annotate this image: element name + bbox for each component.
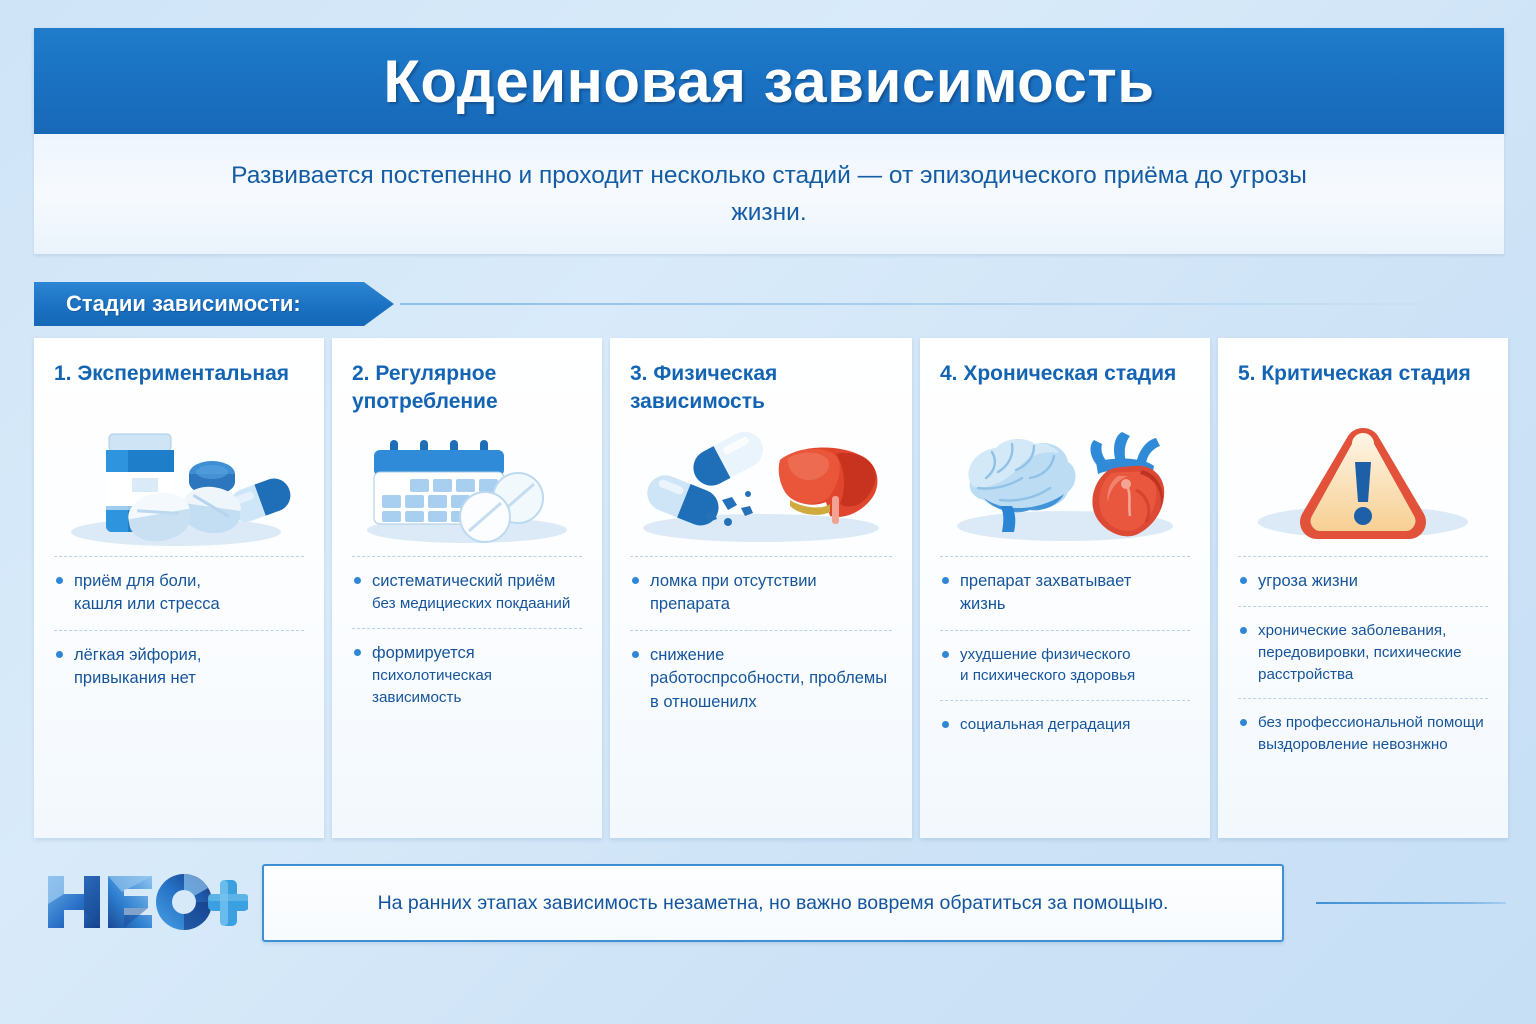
list-item: хронические заболевания, передовировки, … bbox=[1238, 606, 1488, 698]
stage-bullets-2: систематический приём без медициеских по… bbox=[352, 556, 582, 722]
bullet-sub: кашля или стресса bbox=[74, 593, 302, 616]
stage-card-1[interactable]: 1. Экспериментальная bbox=[34, 338, 324, 838]
bullet-lead: формируется bbox=[372, 642, 580, 665]
title-banner: Кодеиновая зависимость bbox=[34, 28, 1504, 134]
stage-illustration-1 bbox=[54, 422, 304, 550]
list-item: формируется психолотическая зависимость bbox=[352, 628, 582, 722]
list-item: ухудшение физического и психического здо… bbox=[940, 630, 1190, 700]
stage-illustration-2 bbox=[352, 422, 582, 550]
footer-note-box: На ранних этапах зависимость незаметна, … bbox=[262, 864, 1284, 942]
stage-bullets-5: угроза жизни хронические заболевания, пе… bbox=[1238, 556, 1488, 768]
bullet-lead: снижение bbox=[650, 644, 890, 667]
list-item: угроза жизни bbox=[1238, 556, 1488, 606]
bullet-sub: выздоровление невознжно bbox=[1258, 734, 1486, 756]
list-item: социальная деградация bbox=[940, 700, 1190, 749]
calendar-and-pills-icon bbox=[352, 422, 582, 548]
bullet-sub: жизнь bbox=[960, 593, 1188, 616]
bullet-lead: ломка при отсутствии bbox=[650, 570, 890, 593]
bullet-sub: передовировки, психические расстройства bbox=[1258, 642, 1486, 685]
page-title: Кодеиновая зависимость bbox=[383, 47, 1154, 116]
stage-bullets-1: приём для боли, кашля или стресса лёгкая… bbox=[54, 556, 304, 704]
stage-card-2[interactable]: 2. Регулярное употребление bbox=[332, 338, 602, 838]
capsule-and-liver-icon bbox=[630, 422, 892, 548]
warning-triangle-icon bbox=[1238, 422, 1488, 548]
neo-plus-logo-icon bbox=[42, 866, 248, 938]
stage-illustration-3 bbox=[630, 422, 892, 550]
stage-illustration-5 bbox=[1238, 422, 1488, 550]
stage-bullets-3: ломка при отсутствии препарата снижение … bbox=[630, 556, 892, 727]
section-ribbon: Стадии зависимости: bbox=[34, 282, 1504, 326]
footer-accent-line bbox=[1316, 902, 1506, 904]
stages-row: 1. Экспериментальная bbox=[34, 338, 1504, 838]
subtitle-panel: Развивается постепенно и проходит нескол… bbox=[34, 134, 1504, 254]
bullet-lead: препарат захватывает bbox=[960, 570, 1188, 593]
stage-title-4: 4. Хроническая стадия bbox=[940, 360, 1190, 418]
stage-title-3: 3. Физическая зависимость bbox=[630, 360, 892, 418]
brain-and-heart-icon bbox=[940, 422, 1190, 548]
stage-bullets-4: препарат захватывает жизнь ухудшение физ… bbox=[940, 556, 1190, 749]
bullet-sub: препарата bbox=[650, 593, 890, 616]
pill-bottle-and-tablets-icon bbox=[54, 422, 304, 548]
stage-illustration-4 bbox=[940, 422, 1190, 550]
bullet-lead: угроза жизни bbox=[1258, 570, 1486, 593]
footer: На ранних этапах зависимость незаметна, … bbox=[34, 858, 1504, 958]
brand-logo bbox=[42, 866, 248, 938]
ribbon-label: Стадии зависимости: bbox=[34, 291, 301, 317]
bullet-lead: без профессиональной помощи bbox=[1258, 712, 1486, 734]
bullet-lead: хронические заболевания, bbox=[1258, 620, 1486, 642]
list-item: препарат захватывает жизнь bbox=[940, 556, 1190, 630]
bullet-lead: ухудшение физического bbox=[960, 644, 1188, 666]
list-item: лёгкая эйфория, привыкания нет bbox=[54, 630, 304, 704]
bullet-sub: и психического здоровья bbox=[960, 665, 1188, 687]
list-item: ломка при отсутствии препарата bbox=[630, 556, 892, 630]
infographic-page: Кодеиновая зависимость Развивается посте… bbox=[0, 0, 1536, 1024]
list-item: систематический приём без медициеских по… bbox=[352, 556, 582, 628]
list-item: без профессиональной помощи выздоровлени… bbox=[1238, 698, 1488, 768]
stage-card-3[interactable]: 3. Физическая зависимость bbox=[610, 338, 912, 838]
ribbon-shape: Стадии зависимости: bbox=[34, 282, 394, 326]
bullet-sub: привыкания нет bbox=[74, 667, 302, 690]
ribbon-divider-line bbox=[400, 303, 1504, 305]
stage-title-5: 5. Критическая стадия bbox=[1238, 360, 1488, 418]
bullet-sub: работоспрсобности, проблемы в отношенилх bbox=[650, 667, 890, 714]
bullet-sub: психолотическая зависимость bbox=[372, 665, 580, 708]
bullet-lead: лёгкая эйфория, bbox=[74, 644, 302, 667]
list-item: приём для боли, кашля или стресса bbox=[54, 556, 304, 630]
bullet-lead: приём для боли, bbox=[74, 570, 302, 593]
stage-title-1: 1. Экспериментальная bbox=[54, 360, 304, 418]
subtitle-text: Развивается постепенно и проходит нескол… bbox=[229, 157, 1309, 231]
bullet-sub: без медициеских покдааний bbox=[372, 593, 580, 615]
stage-card-4[interactable]: 4. Хроническая стадия bbox=[920, 338, 1210, 838]
list-item: снижение работоспрсобности, проблемы в о… bbox=[630, 630, 892, 727]
stage-title-2: 2. Регулярное употребление bbox=[352, 360, 582, 418]
bullet-lead: систематический приём bbox=[372, 570, 580, 593]
footer-note-text: На ранних этапах зависимость незаметна, … bbox=[378, 892, 1169, 915]
stage-card-5[interactable]: 5. Критическая стадия bbox=[1218, 338, 1508, 838]
bullet-lead: социальная деградация bbox=[960, 714, 1188, 736]
